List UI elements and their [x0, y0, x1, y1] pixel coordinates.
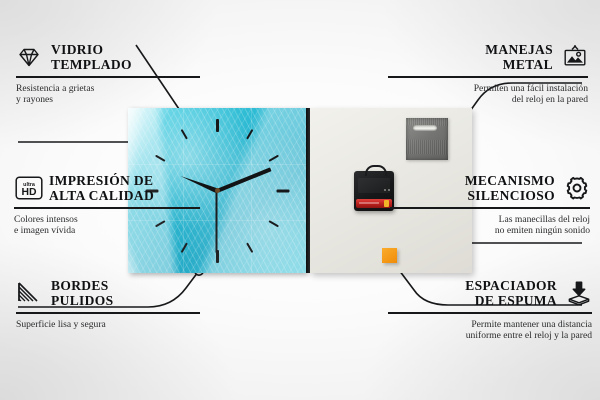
- feature-bordes-pulidos: BORDES PULIDOS Superficie lisa y segura: [16, 278, 216, 330]
- feature-divider: [390, 207, 590, 209]
- feature-mecanismo-silencioso: MECANISMO SILENCIOSO Las manecillas del …: [380, 173, 590, 237]
- feature-title-line1: MANEJAS: [485, 42, 553, 57]
- feature-title-line2: ALTA CALIDAD: [49, 188, 154, 203]
- feature-title: IMPRESIÓN DE ALTA CALIDAD: [49, 173, 154, 203]
- feature-title-line1: BORDES: [51, 278, 109, 293]
- feature-title: ESPACIADOR DE ESPUMA: [465, 278, 557, 308]
- feature-desc-line2: no emiten ningún sonido: [495, 225, 590, 236]
- feature-divider: [388, 312, 592, 314]
- feature-impresion-alta-calidad: ultra HD IMPRESIÓN DE ALTA CALIDAD Color…: [14, 173, 214, 237]
- feature-header: MECANISMO SILENCIOSO: [380, 173, 590, 203]
- beveled-edge-icon: [16, 280, 42, 306]
- ultra-hd-icon-main-label: HD: [21, 187, 37, 198]
- feature-desc-line1: Las manecillas del reloj: [499, 214, 590, 225]
- foam-spacer-square: [382, 248, 397, 263]
- feature-title: MECANISMO SILENCIOSO: [465, 173, 555, 203]
- infographic-canvas: VIDRIO TEMPLADO Resistencia a grietas y …: [0, 0, 600, 400]
- feature-description: Permiten una fácil instalación del reloj…: [378, 83, 588, 106]
- feature-title-line2: PULIDOS: [51, 293, 113, 308]
- feature-description: Colores intensos e imagen vívida: [14, 214, 214, 237]
- feature-divider: [388, 76, 588, 78]
- feature-title-line2: METAL: [503, 57, 553, 72]
- feature-title-line1: IMPRESIÓN DE: [49, 173, 153, 188]
- feature-desc-line1: Permiten una fácil instalación: [474, 83, 588, 94]
- feature-desc-line2: del reloj en la pared: [512, 94, 588, 105]
- feature-title-line1: ESPACIADOR: [465, 278, 557, 293]
- feature-title-line1: MECANISMO: [465, 173, 555, 188]
- feature-desc-line2: e imagen vívida: [14, 225, 75, 236]
- gear-icon: [564, 175, 590, 201]
- feature-header: MANEJAS METAL: [378, 42, 588, 72]
- feature-description: Permite mantener una distancia uniforme …: [378, 319, 592, 342]
- diamond-icon: [16, 44, 42, 70]
- feature-desc-line2: y rayones: [16, 94, 53, 105]
- feature-divider: [16, 76, 200, 78]
- feature-desc-line2: uniforme entre el reloj y la pared: [466, 330, 592, 341]
- feature-title-line2: SILENCIOSO: [467, 188, 555, 203]
- feature-desc-line1: Permite mantener una distancia: [471, 319, 592, 330]
- feature-divider: [14, 207, 200, 209]
- feature-desc-line1: Colores intensos: [14, 214, 78, 225]
- hanger-slot: [413, 125, 437, 131]
- feature-desc-line1: Resistencia a grietas: [16, 83, 94, 94]
- glass-seam-horizontal-top: [128, 164, 306, 165]
- metal-hanger-plate: [406, 118, 448, 160]
- clock-center-cap: [215, 188, 220, 193]
- picture-hanger-icon: [562, 44, 588, 70]
- feature-description: Las manecillas del reloj no emiten ningú…: [380, 214, 590, 237]
- feature-title-line2: TEMPLADO: [51, 57, 132, 72]
- feature-header: VIDRIO TEMPLADO: [16, 42, 216, 72]
- feature-divider: [16, 312, 200, 314]
- ultra-hd-icon: ultra HD: [14, 175, 40, 201]
- feature-vidrio-templado: VIDRIO TEMPLADO Resistencia a grietas y …: [16, 42, 216, 106]
- feature-desc-line1: Superficie lisa y segura: [16, 319, 106, 330]
- feature-header: ESPACIADOR DE ESPUMA: [378, 278, 592, 308]
- feature-title-line1: VIDRIO: [51, 42, 103, 57]
- feature-title: BORDES PULIDOS: [51, 278, 113, 308]
- feature-espaciador-espuma: ESPACIADOR DE ESPUMA Permite mantener un…: [378, 278, 592, 342]
- feature-description: Superficie lisa y segura: [16, 319, 216, 331]
- feature-manejas-metal: MANEJAS METAL Permiten una fácil instala…: [378, 42, 588, 106]
- feature-header: BORDES PULIDOS: [16, 278, 216, 308]
- feature-title: MANEJAS METAL: [485, 42, 553, 72]
- feature-description: Resistencia a grietas y rayones: [16, 83, 216, 106]
- press-down-pad-icon: [566, 280, 592, 306]
- feature-title-line2: DE ESPUMA: [475, 293, 557, 308]
- feature-title: VIDRIO TEMPLADO: [51, 42, 132, 72]
- feature-header: ultra HD IMPRESIÓN DE ALTA CALIDAD: [14, 173, 214, 203]
